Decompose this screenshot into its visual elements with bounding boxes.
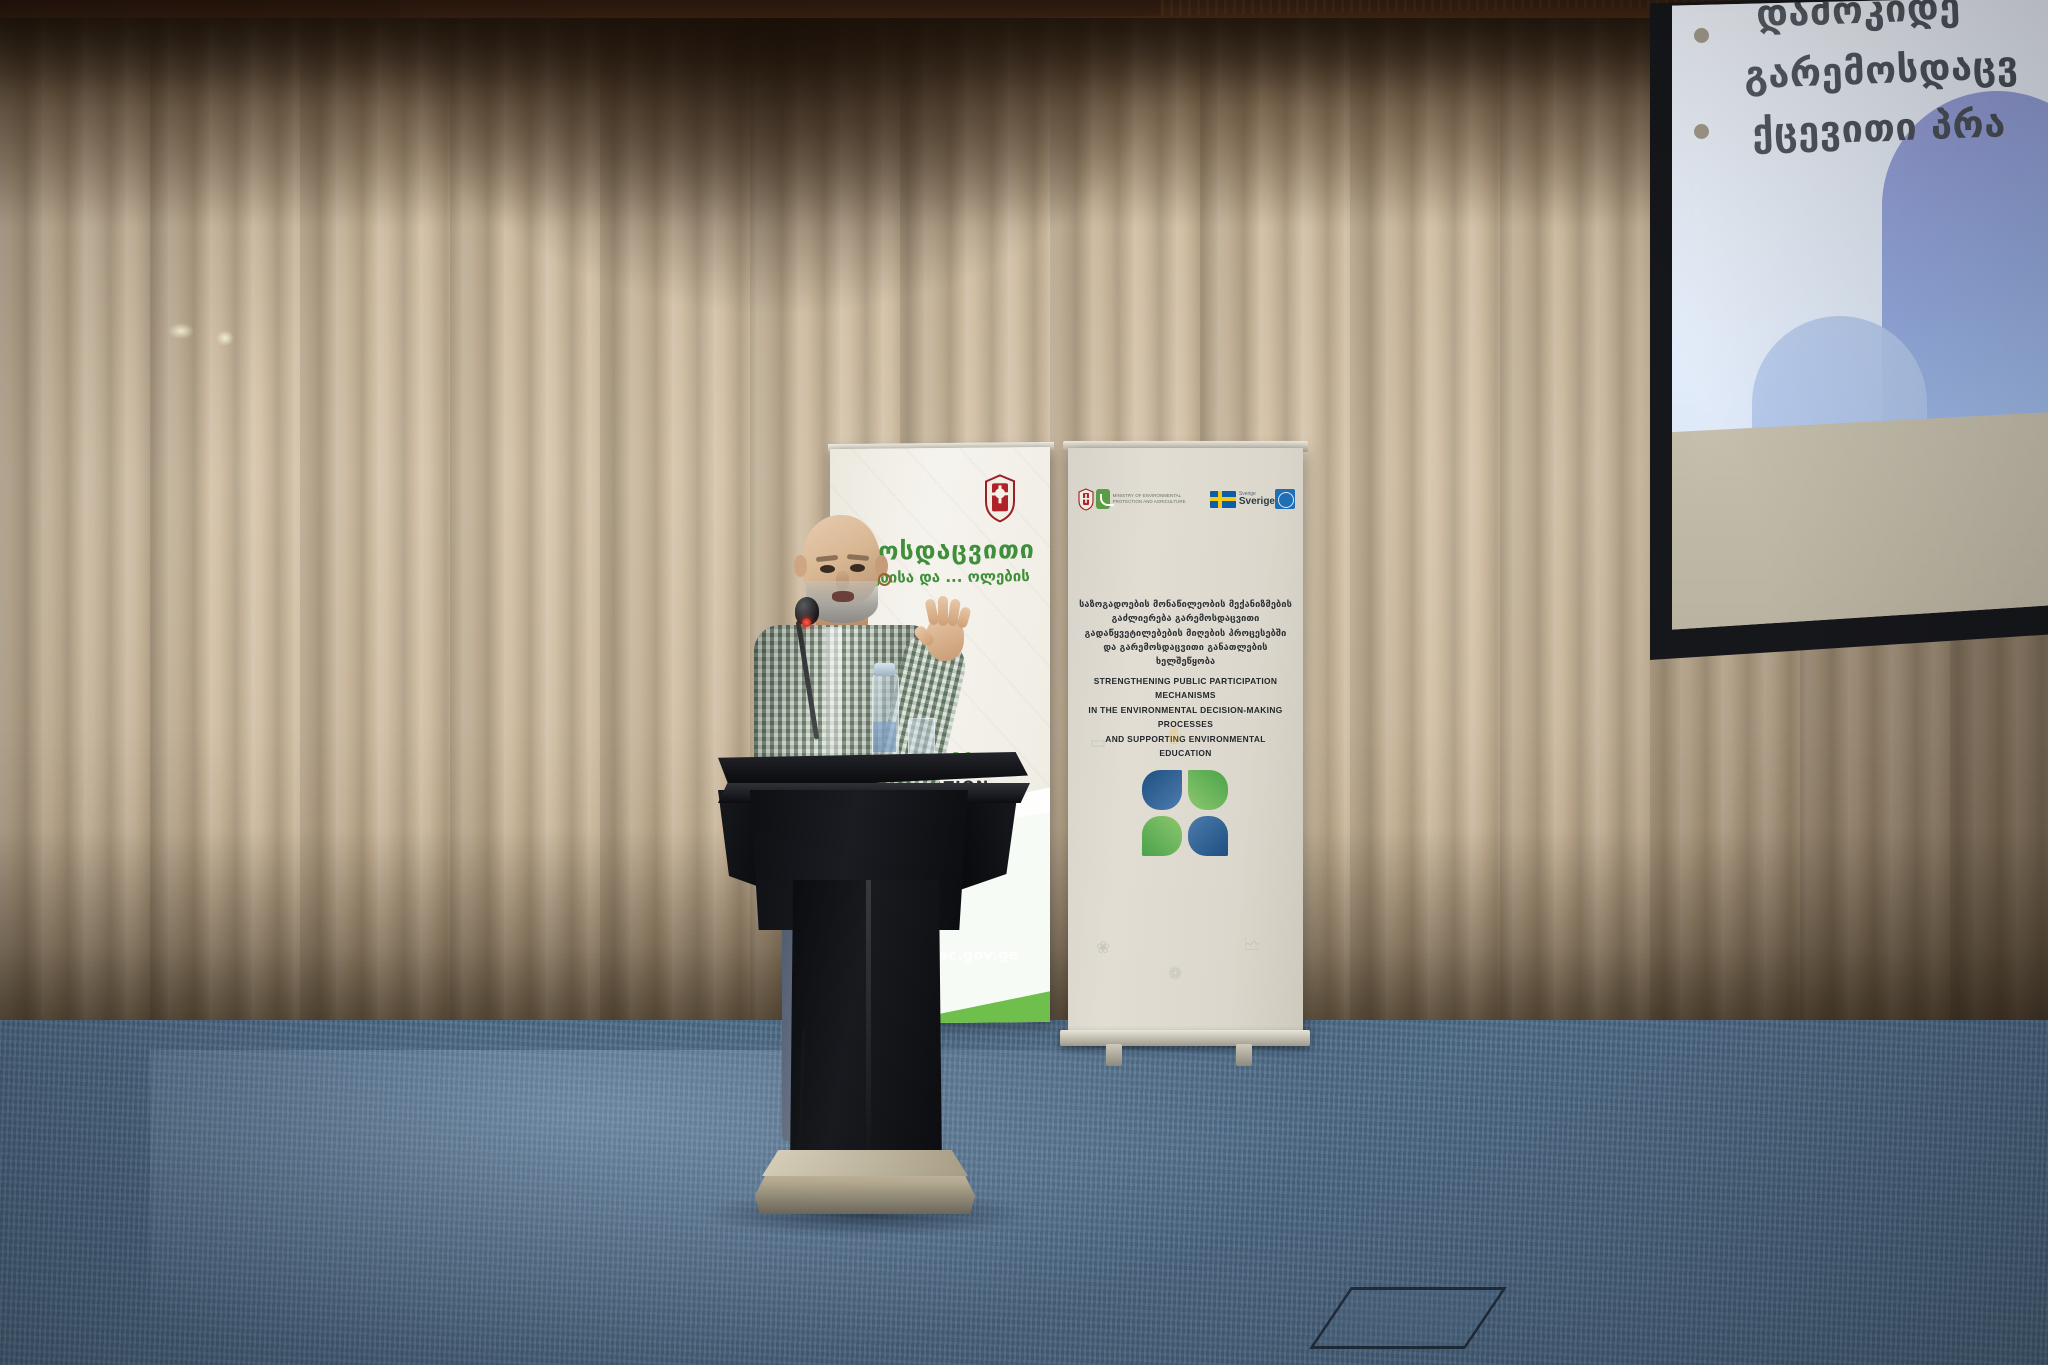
banner-right-base (1060, 1030, 1310, 1046)
banner-project: MINISTRY OF ENVIRONMENTAL PROTECTION AND… (1068, 448, 1303, 1038)
sweden-label-main: Sverige (1239, 497, 1275, 507)
hand-vote-icon: ✋ (1164, 726, 1185, 746)
project-petal-logo (1142, 770, 1230, 858)
sweden-flag-glyph (1210, 491, 1236, 508)
finger-middle (938, 596, 948, 626)
banner-right-foot-left (1106, 1044, 1122, 1066)
banner-title-en-line-3: AND SUPPORTING ENVIRONMENTAL EDUCATION (1080, 732, 1291, 761)
presenter-mouth (832, 591, 854, 602)
microphone-status-led (802, 618, 811, 627)
water-bottle-label (873, 722, 896, 752)
curtain-light-reflection (168, 323, 194, 339)
banner-title-en-line-2: IN THE ENVIRONMENTAL DECISION-MAKING PRO… (1080, 703, 1291, 732)
globe-icon: ❀ (1096, 938, 1110, 958)
laptop-icon: ▭ (1090, 733, 1106, 753)
banner-title-en-line-1: STRENGTHENING PUBLIC PARTICIPATION MECHA… (1080, 674, 1291, 703)
podium-column-highlight (866, 880, 871, 1165)
curtain-corner-shadow (380, 18, 1180, 318)
banner-right-foot-right (1236, 1044, 1252, 1066)
un-logo-icon (1275, 489, 1295, 509)
sweden-flag-icon: Sverige Sverige (1210, 491, 1275, 508)
presentation-icon: 🗠 (1244, 932, 1261, 961)
banner-title-english: STRENGTHENING PUBLIC PARTICIPATION MECHA… (1080, 674, 1291, 761)
georgia-coat-of-arms-icon (1076, 487, 1096, 511)
conference-photo: დამოკიდე გარემოსდაცვ ქცევითი პრა ემოსდაც… (0, 0, 2048, 1365)
screen-surface: დამოკიდე გარემოსდაცვ ქცევითი პრა (1672, 0, 2048, 636)
presenter-ear-left (794, 555, 807, 577)
podium-base-top (762, 1150, 968, 1176)
projection-screen: დამოკიდე გარემოსდაცვ ქცევითი პრა (1650, 0, 2048, 660)
georgia-emblem-glyph (1076, 487, 1096, 511)
banner-logo-row: MINISTRY OF ENVIRONMENTAL PROTECTION AND… (1068, 482, 1303, 516)
hoop-earring-icon (878, 573, 891, 586)
presenter-raised-hand (918, 599, 970, 663)
petal-top-right (1188, 770, 1228, 810)
ministry-mark-glyph (1096, 489, 1110, 509)
presenter-eye-left (820, 565, 835, 573)
un-mark-glyph (1275, 489, 1295, 509)
screen-sheen (1694, 2, 2048, 636)
water-bottle-cap (874, 663, 895, 676)
petal-bottom-right (1188, 816, 1228, 856)
petal-bottom-left (1142, 816, 1182, 856)
curtain-light-reflection-2 (216, 330, 234, 346)
ministry-logo-label: MINISTRY OF ENVIRONMENTAL PROTECTION AND… (1113, 493, 1210, 504)
network-icon: ⁘ (1236, 730, 1250, 750)
banner-title-georgian: საზოგადოების მონაწილეობის მექანიზმების გ… (1078, 598, 1293, 669)
ministry-logo-icon: MINISTRY OF ENVIRONMENTAL PROTECTION AND… (1096, 489, 1210, 509)
presenter-eye-right (850, 564, 865, 572)
petal-top-left (1142, 770, 1182, 810)
sweden-label-group: Sverige Sverige (1239, 492, 1275, 507)
carpet-floor (0, 1020, 2048, 1365)
plant-icon: ❁ (1168, 964, 1182, 984)
